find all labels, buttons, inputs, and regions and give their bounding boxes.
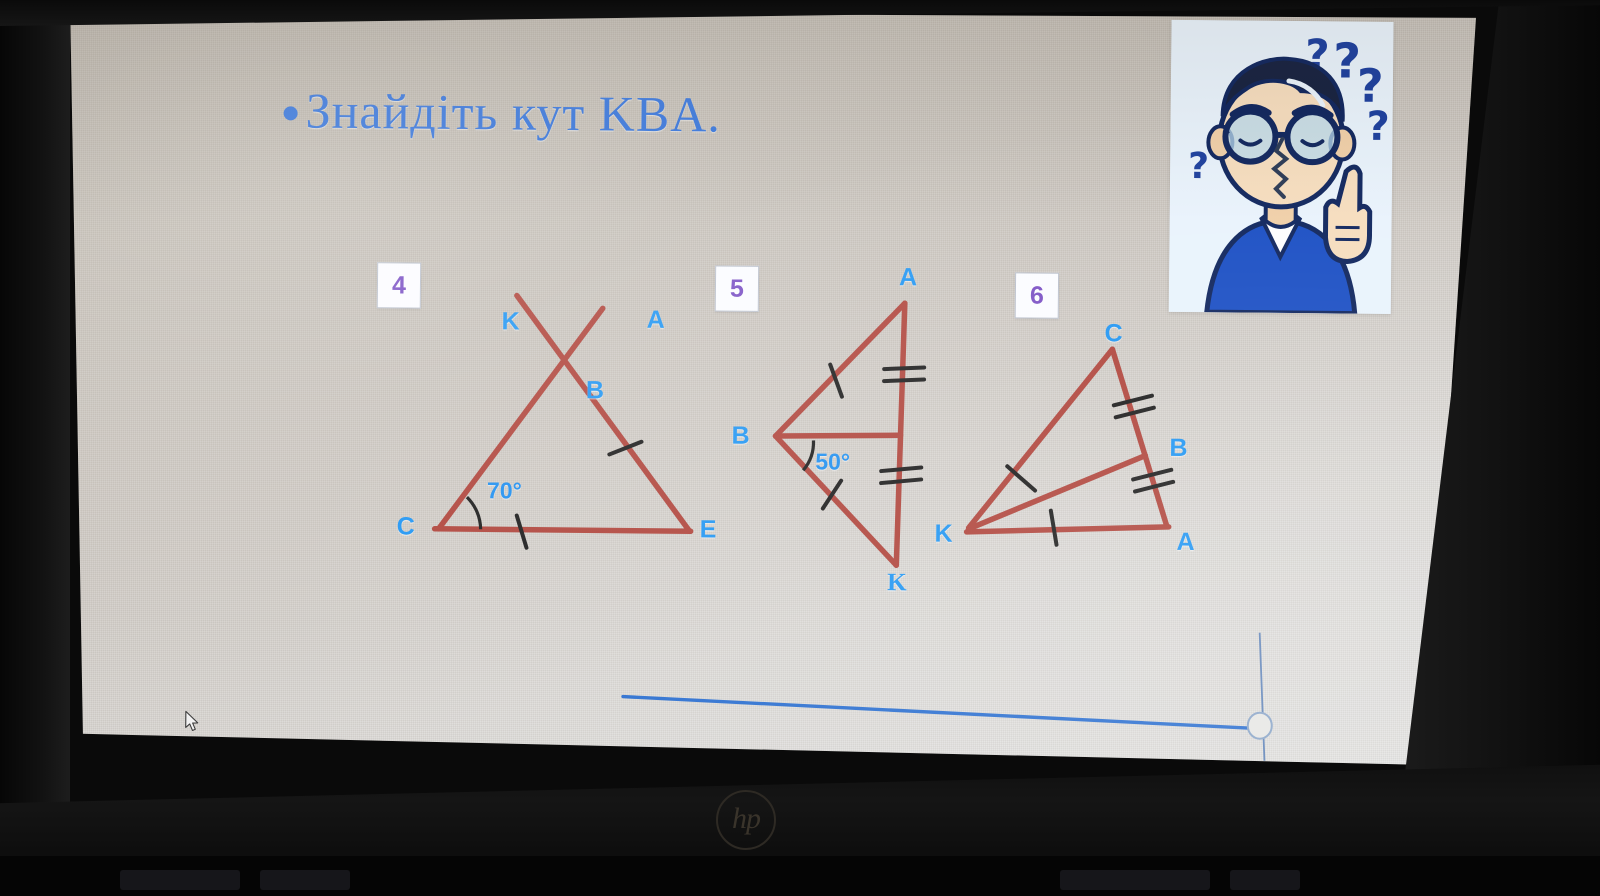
cartoon-svg: ? ? ? ? ?	[1169, 20, 1394, 314]
vertex-label-b: B	[1169, 434, 1187, 463]
vertex-label-c: C	[1104, 319, 1122, 348]
arrow-pointer-icon	[185, 710, 201, 732]
vertex-label-a: A	[647, 306, 665, 335]
hp-logo: hp	[716, 790, 776, 850]
page-title: Знайдіть кут KBA.	[283, 81, 721, 143]
keyboard-key	[260, 870, 350, 890]
vertical-guide-line	[1258, 633, 1265, 761]
vertex-label-a: A	[1176, 528, 1194, 557]
thinking-man-cartoon: ? ? ? ? ?	[1169, 20, 1394, 314]
keyboard-key	[1060, 870, 1210, 890]
vertex-label-a: A	[899, 263, 917, 292]
screen-bezel-left	[0, 0, 70, 896]
bullet-icon	[284, 106, 298, 120]
angle-arc-b	[803, 440, 813, 470]
laptop-photo: Знайдіть кут KBA. ? ? ? ? ?	[0, 0, 1600, 896]
svg-text:?: ?	[1188, 146, 1209, 187]
angle-label-70: 70°	[487, 477, 522, 504]
vertex-label-b: B	[586, 376, 604, 405]
presentation-slide: Знайдіть кут KBA. ? ? ? ? ?	[66, 8, 1476, 768]
keyboard-edge	[0, 856, 1600, 896]
figure-4: K A B C E 70°	[394, 284, 697, 557]
figure-6: C B K A	[954, 332, 1216, 564]
vertex-label-c: C	[397, 512, 415, 541]
laptop-screen: Знайдіть кут KBA. ? ? ? ? ?	[66, 8, 1476, 768]
vertex-label-k: K	[934, 520, 952, 549]
vertex-label-b: B	[731, 422, 749, 451]
svg-text:?: ?	[1366, 104, 1390, 150]
line-handle[interactable]	[1248, 713, 1272, 739]
vertex-label-e: E	[699, 515, 716, 544]
figure-number-5: 5	[715, 265, 759, 311]
keyboard-key	[1230, 870, 1300, 890]
keyboard-key	[120, 870, 240, 890]
blue-ink-line[interactable]	[623, 697, 1261, 729]
angle-label-50: 50°	[815, 448, 850, 475]
vertex-label-k: K	[501, 307, 519, 336]
vertex-label-k: K	[887, 569, 907, 597]
title-text: Знайдіть кут KBA.	[305, 82, 721, 144]
figure-number-6: 6	[1015, 272, 1059, 318]
angle-arc-c	[467, 497, 481, 529]
tick-cb	[1114, 395, 1154, 417]
